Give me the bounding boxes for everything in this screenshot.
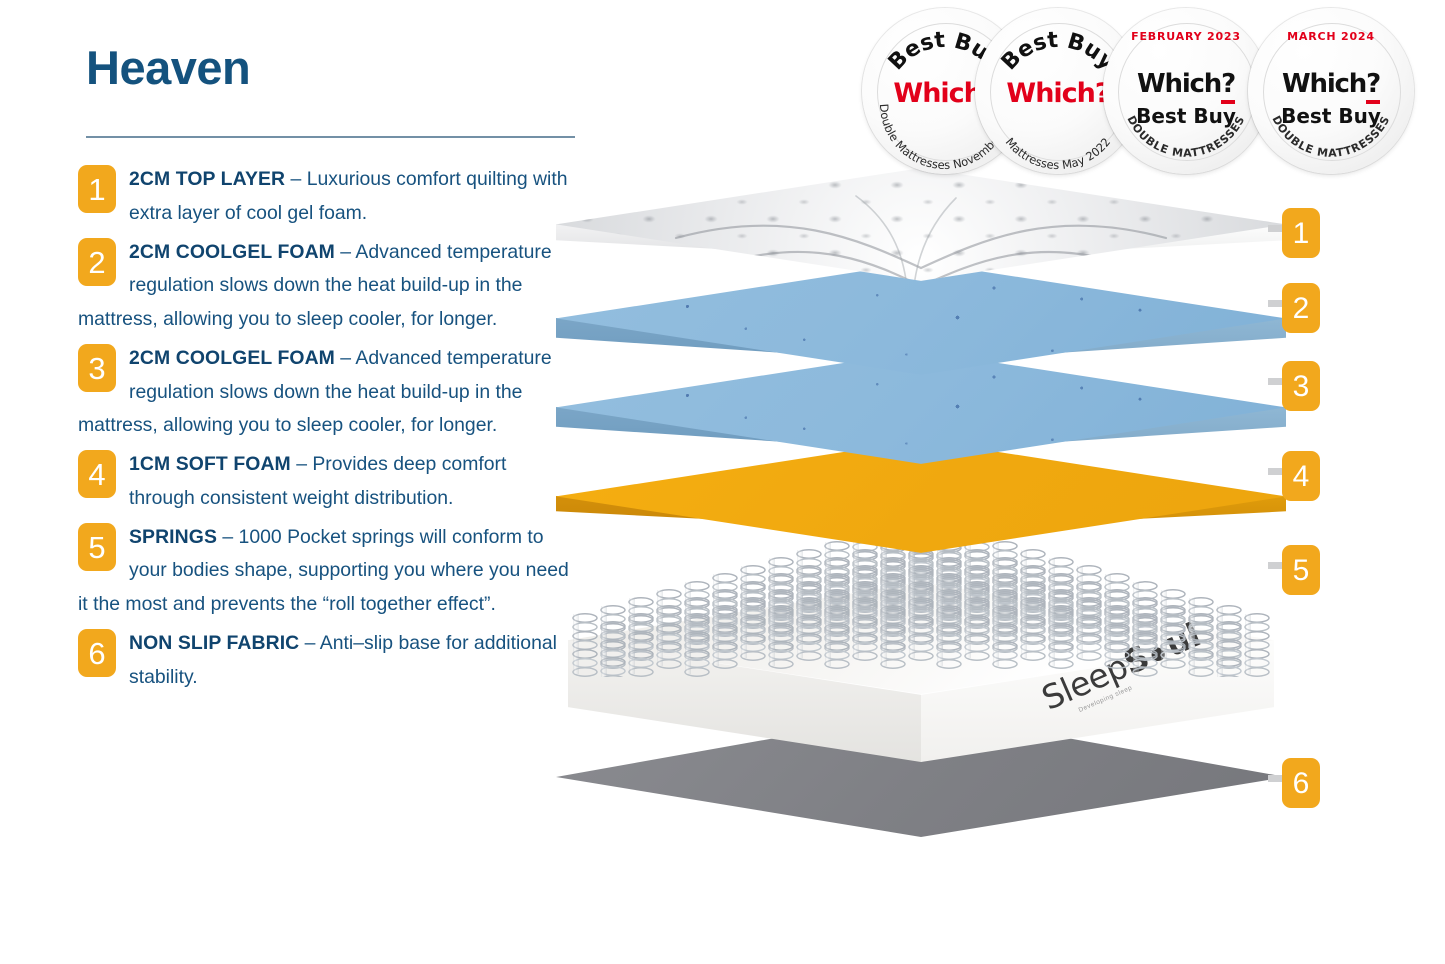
layer-number-badge: 1 xyxy=(78,165,116,213)
badge-content: DOUBLE MATTRESSES MARCH 2024 Which? Best… xyxy=(1248,8,1414,174)
layer-description: 2CM TOP LAYER – Luxurious comfort quilti… xyxy=(78,163,572,231)
layer-number-badge: 3 xyxy=(78,344,116,392)
brand-word: Which xyxy=(1282,69,1366,99)
page-title: Heaven xyxy=(86,40,250,95)
badge-top-text: Best Buy xyxy=(997,28,1120,75)
svg-text:Best Buy: Best Buy xyxy=(997,28,1120,75)
svg-text:Mattresses May 2022: Mattresses May 2022 xyxy=(1003,135,1114,172)
callout-number-6: 6 xyxy=(1282,758,1320,808)
quilt-stitch-lines xyxy=(556,168,1286,353)
layer-dash: – xyxy=(335,347,356,369)
layer-dash: – xyxy=(291,453,313,475)
list-item: 4 1CM SOFT FOAM – Provides deep comfort … xyxy=(78,448,572,516)
title-divider xyxy=(86,136,575,138)
layer-heading: 2CM COOLGEL FOAM xyxy=(129,241,335,263)
layer-description: NON SLIP FABRIC – Anti–slip base for add… xyxy=(78,627,572,695)
layer-dash: – xyxy=(299,632,320,654)
layer-heading: 2CM TOP LAYER xyxy=(129,168,285,190)
badge-bestbuy-4: Best Buy xyxy=(1248,104,1414,128)
mattress-layer-quilted-top xyxy=(556,168,1286,353)
badge-content: DOUBLE MATTRESSES FEBRUARY 2023 Which? B… xyxy=(1103,8,1269,174)
badge-bestbuy-3: Best Buy xyxy=(1103,104,1269,128)
badge-date-4: MARCH 2024 xyxy=(1248,30,1414,43)
list-item: 2 2CM COOLGEL FOAM – Advanced temperatur… xyxy=(78,236,572,337)
list-item: 1 2CM TOP LAYER – Luxurious comfort quil… xyxy=(78,163,572,231)
layer-dash: – xyxy=(217,526,239,548)
brand-question-mark: ? xyxy=(1366,69,1380,104)
quilt-stitch-pattern xyxy=(556,168,1286,353)
layer-description: SPRINGS – 1000 Pocket springs will confo… xyxy=(78,521,572,622)
layer-number-badge: 4 xyxy=(78,450,116,498)
layer-heading: 1CM SOFT FOAM xyxy=(129,453,291,475)
layer-number-badge: 5 xyxy=(78,523,116,571)
layer-dash: – xyxy=(335,241,356,263)
brand-word: Which xyxy=(1137,69,1221,99)
callout-number-3: 3 xyxy=(1282,361,1320,411)
callout-number-4: 4 xyxy=(1282,451,1320,501)
badge-brand-which-4: Which? xyxy=(1248,69,1414,99)
award-badge-which-best-buy-4: DOUBLE MATTRESSES MARCH 2024 Which? Best… xyxy=(1248,8,1414,174)
layer-dash: – xyxy=(285,168,307,190)
list-item: 3 2CM COOLGEL FOAM – Advanced temperatur… xyxy=(78,342,572,443)
layer-description: 2CM COOLGEL FOAM – Advanced temperature … xyxy=(78,342,572,443)
layer-number-badge: 6 xyxy=(78,629,116,677)
layer-number-badge: 2 xyxy=(78,238,116,286)
list-item: 6 NON SLIP FABRIC – Anti–slip base for a… xyxy=(78,627,572,695)
badge-bottom-text: Mattresses May 2022 xyxy=(1003,135,1114,172)
layer-heading: SPRINGS xyxy=(129,526,217,548)
list-item: 5 SPRINGS – 1000 Pocket springs will con… xyxy=(78,521,572,622)
layer-description: 1CM SOFT FOAM – Provides deep comfort th… xyxy=(78,448,572,516)
award-badge-which-best-buy-3: DOUBLE MATTRESSES FEBRUARY 2023 Which? B… xyxy=(1103,8,1269,174)
layer-description: 2CM COOLGEL FOAM – Advanced temperature … xyxy=(78,236,572,337)
layer-list: 1 2CM TOP LAYER – Luxurious comfort quil… xyxy=(78,163,572,699)
layer-heading: NON SLIP FABRIC xyxy=(129,632,299,654)
badge-brand-which-3: Which? xyxy=(1103,69,1269,99)
left-info-column: Heaven 1 2CM TOP LAYER – Luxurious comfo… xyxy=(0,0,600,964)
badge-date-3: FEBRUARY 2023 xyxy=(1103,30,1269,43)
brand-question-mark: ? xyxy=(1221,69,1235,104)
callout-number-5: 5 xyxy=(1282,545,1320,595)
layer-heading: 2CM COOLGEL FOAM xyxy=(129,347,335,369)
callout-number-1: 1 xyxy=(1282,208,1320,258)
callout-number-2: 2 xyxy=(1282,283,1320,333)
